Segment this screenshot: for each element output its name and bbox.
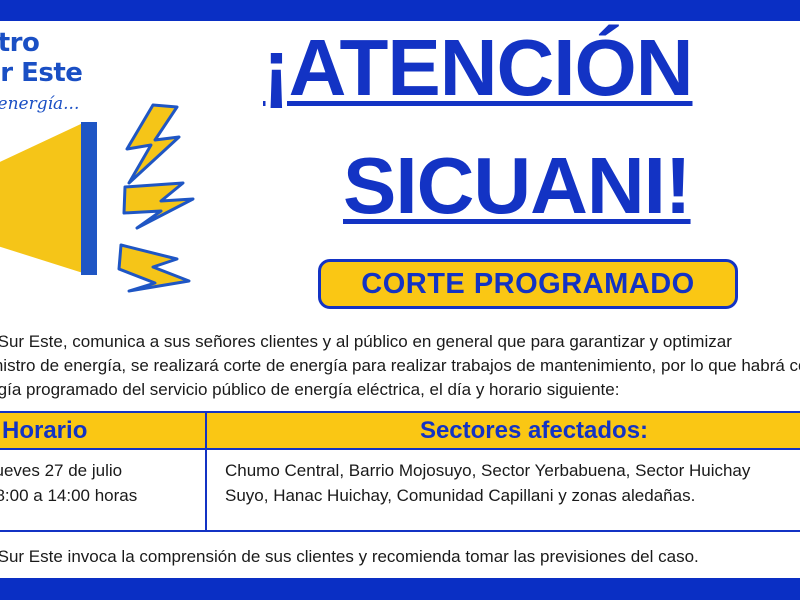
status-badge: CORTE PROGRAMADO xyxy=(318,259,738,309)
intro-line-2: el suministro de energía, se realizará c… xyxy=(0,354,800,378)
table-row: Jueves 27 de julio 08:00 a 14:00 horas C… xyxy=(0,448,800,530)
horario-date: Jueves 27 de julio xyxy=(0,458,205,483)
column-header-horario: Horario xyxy=(0,413,205,448)
outage-schedule-table: Horario Sectores afectados: Jueves 27 de… xyxy=(0,411,800,532)
horario-hours: 08:00 a 14:00 horas xyxy=(0,483,205,508)
intro-line-3: de energía programado del servicio públi… xyxy=(0,378,800,402)
column-header-sectores: Sectores afectados: xyxy=(205,413,800,448)
outage-notice-poster: Electro Sur Este ...que energía... xyxy=(0,0,800,600)
sectores-line-1: Chumo Central, Barrio Mojosuyo, Sector Y… xyxy=(225,458,800,483)
cell-sectores: Chumo Central, Barrio Mojosuyo, Sector Y… xyxy=(205,450,800,530)
logo-line-1: Electro xyxy=(0,28,39,58)
table-header-row: Horario Sectores afectados: xyxy=(0,413,800,448)
headline-line-1: ¡ATENCIÓN xyxy=(263,22,692,114)
sectores-line-2: Suyo, Hanac Huichay, Comunidad Capillani… xyxy=(225,483,800,508)
headline-line-2: SICUANI! xyxy=(343,140,691,232)
status-badge-label: CORTE PROGRAMADO xyxy=(361,268,694,301)
intro-line-1: Electro Sur Este, comunica a sus señores… xyxy=(0,330,800,354)
logo-line-2: Sur Este xyxy=(0,58,82,88)
bottom-brand-bar xyxy=(0,578,800,600)
megaphone-icon xyxy=(0,95,205,300)
top-brand-bar xyxy=(0,0,800,21)
intro-paragraph: Electro Sur Este, comunica a sus señores… xyxy=(0,330,800,402)
cell-horario: Jueves 27 de julio 08:00 a 14:00 horas xyxy=(0,450,205,530)
lightning-bolt-icon xyxy=(119,105,193,291)
closing-note: Electro Sur Este invoca la comprensión d… xyxy=(0,546,800,568)
